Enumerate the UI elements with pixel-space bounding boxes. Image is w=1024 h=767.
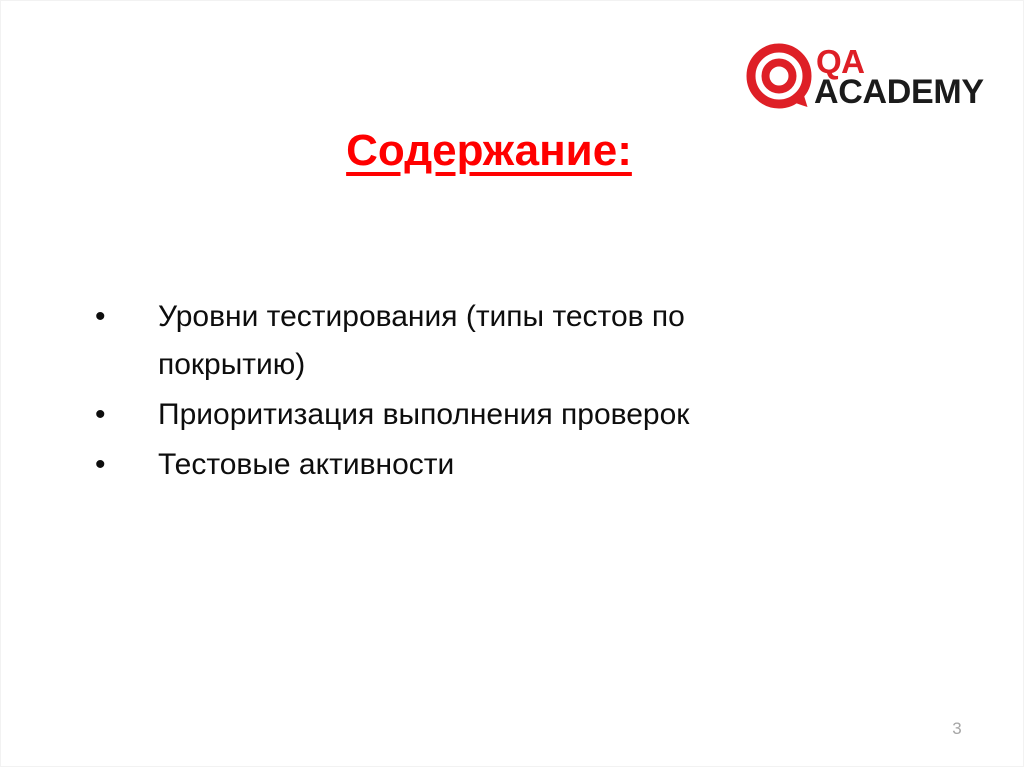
slide-title: Содержание: [1, 127, 977, 175]
list-item: • Тестовые активности [89, 441, 849, 489]
presentation-slide: QA ACADEMY Содержание: • Уровни тестиров… [0, 0, 1024, 767]
slide-title-text: Содержание: [346, 126, 632, 175]
bullet-icon: • [95, 391, 105, 439]
page-number: 3 [945, 720, 969, 737]
bullet-icon: • [95, 441, 105, 489]
list-item-label: Уровни тестирования (типы тестов по покр… [158, 293, 813, 389]
logo-text-academy: ACADEMY [814, 75, 984, 109]
list-item-label: Тестовые активности [158, 441, 849, 489]
qa-academy-logo: QA ACADEMY [746, 39, 981, 115]
list-item-label: Приоритизация выполнения проверок [158, 391, 849, 439]
list-item: • Приоритизация выполнения проверок [89, 391, 849, 439]
qa-academy-wordmark: QA ACADEMY [814, 39, 979, 115]
qa-academy-q-mark-icon [746, 43, 816, 113]
contents-list: • Уровни тестирования (типы тестов по по… [89, 293, 849, 491]
bullet-icon: • [95, 293, 105, 341]
list-item: • Уровни тестирования (типы тестов по по… [89, 293, 849, 389]
